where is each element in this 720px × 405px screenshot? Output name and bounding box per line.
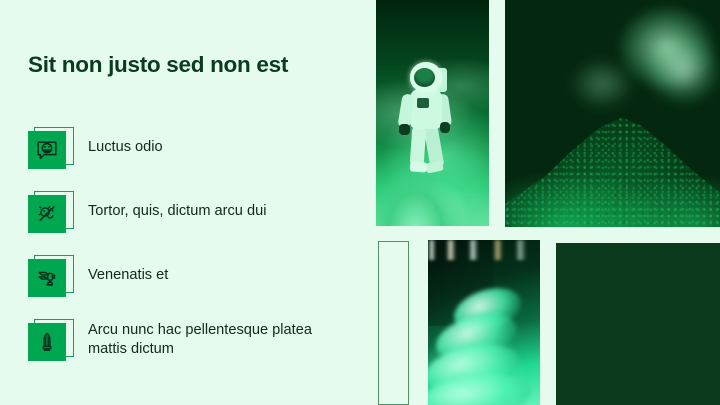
- empty-placeholder: [378, 241, 409, 405]
- solid-color-block: [556, 243, 720, 405]
- water-glow-layer: [428, 240, 540, 405]
- water-photo: [428, 240, 540, 405]
- smoke-plume-right: [647, 36, 720, 104]
- astronaut-figure: [398, 62, 462, 178]
- smoke-plume-left: [570, 59, 635, 109]
- astronaut-right-glove: [440, 122, 450, 133]
- astronaut-visor: [414, 68, 435, 87]
- astronaut-left-leg: [410, 126, 427, 167]
- astronaut-left-boot: [410, 161, 428, 172]
- astronaut-left-glove: [399, 124, 410, 135]
- mound-foreground-ridge: [505, 168, 720, 227]
- image-grid: [0, 0, 720, 405]
- astronaut-torso: [410, 89, 442, 129]
- astronaut-photo: [376, 0, 489, 226]
- astronaut-chest-panel: [417, 98, 429, 108]
- astronaut-right-boot: [425, 160, 444, 173]
- mound-photo: [505, 0, 720, 227]
